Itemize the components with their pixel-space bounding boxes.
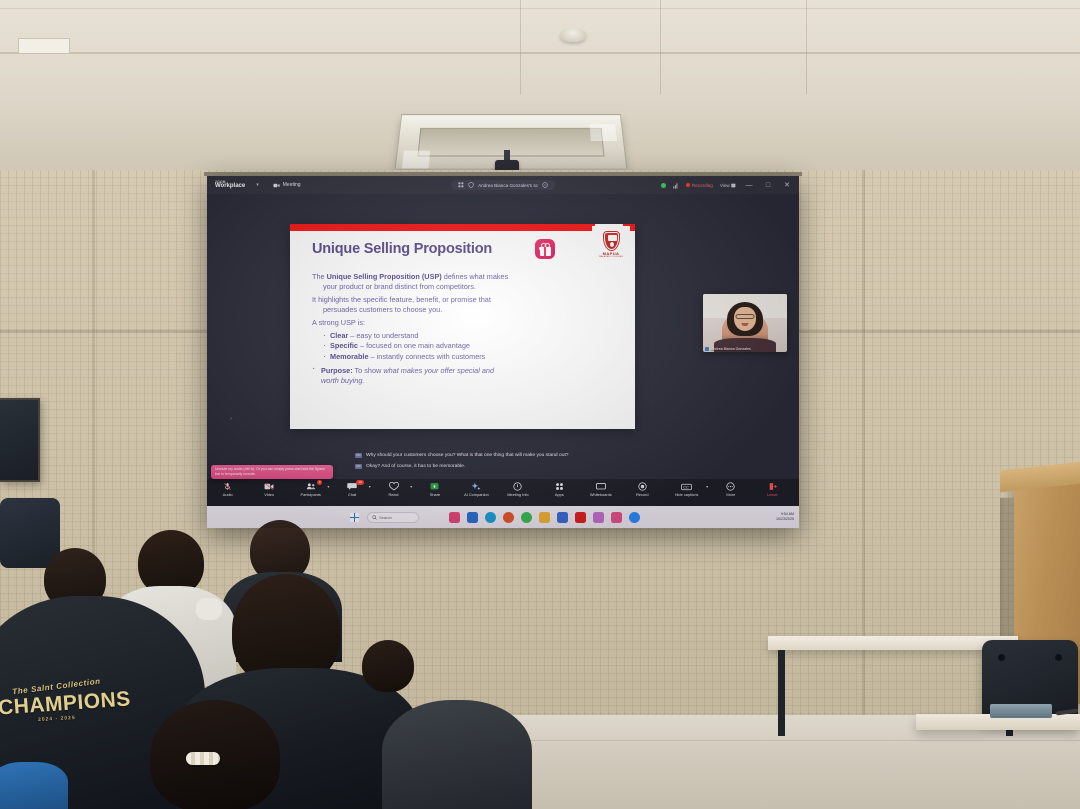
slide-paragraph-3: A strong USP is: <box>312 318 614 328</box>
recording-label: Recording <box>692 183 713 188</box>
chevron-down-icon[interactable]: ▾ <box>256 182 259 188</box>
toolbar-button-meeting-info[interactable]: Meeting Info <box>497 479 538 497</box>
app-icon-edge[interactable] <box>485 512 496 523</box>
toolbar-label-meeting-info: Meeting Info <box>507 492 528 497</box>
zoom-meeting-body: MAPUA MALAYAN COLLEGES Unique Selling Pr… <box>207 194 799 490</box>
ceiling-seam <box>0 8 1080 9</box>
slide-body: The Unique Selling Proposition (USP) def… <box>312 272 614 387</box>
student-body <box>0 762 68 809</box>
ceiling-light-panel <box>18 38 70 54</box>
zoom-workplace-logo: ZOOM Workplace <box>215 181 245 189</box>
audio-tooltip: Unmute my audio (Alt+A). Or you can simp… <box>211 465 333 479</box>
bullet-rest: – instantly connects with customers <box>369 352 486 361</box>
screen-share-marker: ↗ <box>229 416 232 421</box>
whiteboard-icon <box>596 482 606 491</box>
p1-part-d: your product or brand distinct from comp… <box>312 282 614 292</box>
participant-face <box>734 307 756 331</box>
smoke-detector <box>560 28 586 42</box>
participant-glasses <box>736 314 755 319</box>
info-circle-icon <box>513 482 522 491</box>
caption-text: Okay? And of course, it has to be memora… <box>366 463 465 470</box>
participant-name-badge: Andrea Bianca Gonzales <box>705 347 751 351</box>
windows-start-icon[interactable] <box>350 513 359 522</box>
recording-indicator[interactable]: Recording <box>686 183 713 188</box>
p2-part-a: It highlights the specific feature, bene… <box>312 295 491 304</box>
app-icon-canva[interactable] <box>611 512 622 523</box>
more-ellipsis-icon <box>726 482 735 491</box>
usp-bullet-list: Clear – easy to understand Specific – fo… <box>312 331 614 363</box>
toolbar-button-audio[interactable]: Audio <box>207 479 248 497</box>
chat-unread-badge: 10 <box>356 480 363 485</box>
clock-date: 10/23/2025 <box>776 517 794 522</box>
chevron-down-icon[interactable]: ▾ <box>410 484 412 489</box>
minus-circle-icon[interactable] <box>542 182 548 188</box>
chair-rivet <box>1055 654 1062 661</box>
video-camera-icon <box>273 182 280 189</box>
caption-line: CC Why should your customers choose you?… <box>355 452 655 459</box>
titlebar-right-controls: Recording View — □ ✕ <box>661 181 793 189</box>
meeting-title-text: Andrea Bianca Gonzales's sc <box>478 183 538 188</box>
wall-mounted-monitor <box>0 398 40 482</box>
chevron-down-icon[interactable]: ▾ <box>706 484 708 489</box>
search-placeholder: Search <box>379 515 392 520</box>
purpose-text-c: worth buying. <box>321 376 614 386</box>
closed-caption-icon: CC <box>681 482 692 491</box>
app-icon-firefox[interactable] <box>503 512 514 523</box>
toolbar-button-chat[interactable]: ▾ 10 Chat <box>331 479 372 497</box>
grid-icon <box>458 182 464 188</box>
toolbar-button-ai-companion[interactable]: AI Companion <box>456 479 497 497</box>
gift-box-icon <box>535 239 555 259</box>
zoom-brand-main: Workplace <box>215 183 245 189</box>
app-icon-explorer[interactable] <box>539 512 550 523</box>
slide-paragraph-1: The Unique Selling Proposition (USP) def… <box>312 272 614 292</box>
mapua-crest-icon <box>604 232 619 250</box>
close-button[interactable]: ✕ <box>781 181 793 189</box>
apps-grid-icon <box>555 482 564 491</box>
bullet-term: Specific <box>330 341 358 350</box>
toolbar-button-share[interactable]: Share <box>414 479 455 497</box>
purpose-text-a: To show <box>353 366 384 375</box>
taskbar-app-icons <box>449 512 640 523</box>
layout-icon <box>731 183 736 188</box>
ai-sparkle-icon <box>471 482 481 491</box>
classroom-table <box>768 636 1018 650</box>
purpose-label: Purpose: <box>321 366 353 375</box>
chevron-down-icon[interactable]: ▾ <box>327 484 329 489</box>
gift-ribbon <box>544 247 546 256</box>
meeting-title-pill[interactable]: Andrea Bianca Gonzales's sc <box>451 180 555 190</box>
share-screen-icon <box>430 482 439 491</box>
app-icon-photos[interactable] <box>593 512 604 523</box>
chevron-down-icon[interactable]: ▾ <box>369 484 371 489</box>
caption-text: Why should your customers choose you? Wh… <box>366 452 569 459</box>
participants-count-badge: 3 <box>317 480 323 485</box>
caption-line: CC Okay? And of course, it has to be mem… <box>355 463 655 470</box>
bullet-rest: – easy to understand <box>348 331 418 340</box>
toolbar-label-react: React <box>388 492 398 497</box>
toolbar-button-whiteboards[interactable]: Whiteboards <box>580 479 621 497</box>
zoom-bottom-toolbar: Unmute my audio (Alt+A). Or you can simp… <box>207 479 799 506</box>
classroom-scene: ZOOM Workplace ▾ Meeting Andrea B <box>0 0 1080 809</box>
toolbar-label-share: Share <box>430 492 440 497</box>
taskbar-clock[interactable]: 9:54 AM 10/23/2025 <box>776 512 794 522</box>
closed-caption-icon: CC <box>355 464 362 469</box>
view-label: View <box>720 183 730 188</box>
toolbar-label-participants: Participants <box>300 492 320 497</box>
app-icon-store[interactable] <box>557 512 568 523</box>
student-head <box>362 640 414 692</box>
app-icon-clipchamp[interactable] <box>449 512 460 523</box>
floor-tile-line <box>806 0 807 94</box>
gift-box-glyph <box>540 243 551 256</box>
list-item: Specific – focused on one main advantage <box>330 341 614 351</box>
purpose-text-b: what makes your offer special and <box>383 366 494 375</box>
view-button[interactable]: View <box>720 183 736 188</box>
mapua-logo-subtitle: MALAYAN COLLEGES <box>599 256 623 258</box>
toolbar-button-leave[interactable]: Leave <box>752 479 793 497</box>
ac-grille <box>417 128 604 157</box>
participants-icon <box>306 482 316 491</box>
toolbar-label-leave: Leave <box>767 492 778 497</box>
presence-online-icon <box>661 183 666 188</box>
p2-part-b: persuades customers to choose you. <box>312 305 614 315</box>
floor-tile-line <box>660 0 661 94</box>
heart-icon <box>389 482 399 491</box>
mapua-logo: MAPUA MALAYAN COLLEGES <box>592 226 630 264</box>
svg-text:CC: CC <box>683 485 689 489</box>
laptop-on-table <box>990 704 1052 718</box>
chair-rivet <box>998 654 1005 661</box>
meeting-tab[interactable]: Meeting <box>273 182 301 189</box>
p1-usp-term: Unique Selling Proposition (USP) <box>327 272 442 281</box>
ac-corner-vent <box>590 124 617 141</box>
list-item: Clear – easy to understand <box>330 331 614 341</box>
toolbar-label-whiteboards: Whiteboards <box>590 492 612 497</box>
toolbar-button-participants[interactable]: ▾ 3 Participants <box>290 479 331 497</box>
student-body <box>382 700 532 809</box>
floor-tile-line <box>520 0 521 94</box>
toolbar-button-apps[interactable]: Apps <box>539 479 580 497</box>
meeting-tab-label: Meeting <box>283 182 301 188</box>
zoom-title-bar: ZOOM Workplace ▾ Meeting Andrea B <box>207 176 799 194</box>
participant-video-thumbnail[interactable]: Andrea Bianca Gonzales <box>703 294 787 352</box>
toolbar-label-video: Video <box>264 492 274 497</box>
participant-name-label: Andrea Bianca Gonzales <box>711 347 751 351</box>
hair-scrunchie <box>186 752 220 765</box>
toolbar-button-hide-captions[interactable]: CC ▾ Hide captions <box>663 479 710 497</box>
bullet-term: Clear <box>330 331 348 340</box>
p1-part-a: The <box>312 272 327 281</box>
bullet-term: Memorable <box>330 352 369 361</box>
microphone-icon <box>705 347 709 351</box>
toolbar-button-record[interactable]: Record <box>622 479 663 497</box>
live-captions: CC Why should your customers choose you?… <box>355 452 655 474</box>
search-icon <box>372 515 377 520</box>
ceiling-seam <box>0 52 1080 54</box>
network-signal-icon <box>673 182 679 189</box>
record-circle-icon <box>638 482 647 491</box>
app-icon-chrome[interactable] <box>521 512 532 523</box>
toolbar-label-more: More <box>726 492 735 497</box>
search-input[interactable]: Search <box>367 512 419 523</box>
toolbar-button-video[interactable]: Video <box>248 479 289 497</box>
app-icon-youtube[interactable] <box>575 512 586 523</box>
slide-purpose-line: Purpose: To show what makes your offer s… <box>312 366 614 386</box>
list-item: Memorable – instantly connects with cust… <box>330 352 614 362</box>
table-leg <box>778 650 785 736</box>
leave-meeting-icon <box>768 482 777 491</box>
toolbar-button-react[interactable]: ▾ React <box>373 479 414 497</box>
slide-paragraph-2: It highlights the specific feature, bene… <box>312 295 614 315</box>
toolbar-label-ai-companion: AI Companion <box>464 492 489 497</box>
closed-caption-icon: CC <box>355 453 362 458</box>
camera-icon <box>264 482 274 491</box>
bullet-rest: – focused on one main advantage <box>358 341 470 350</box>
toolbar-label-chat: Chat <box>348 492 356 497</box>
app-icon-zoom[interactable] <box>629 512 640 523</box>
toolbar-label-record: Record <box>636 492 649 497</box>
toolbar-button-more[interactable]: More <box>710 479 751 497</box>
maximize-button[interactable]: □ <box>762 182 774 189</box>
record-dot-icon <box>686 183 690 187</box>
face-mask <box>196 598 222 620</box>
projector-screen: ZOOM Workplace ▾ Meeting Andrea B <box>207 176 799 528</box>
app-icon-outlook[interactable] <box>467 512 478 523</box>
slide-accent-bar <box>290 224 635 231</box>
p1-part-c: defines what makes <box>442 272 509 281</box>
minimize-button[interactable]: — <box>743 182 755 189</box>
slide-title: Unique Selling Proposition <box>312 241 492 257</box>
toolbar-label-apps: Apps <box>555 492 564 497</box>
microphone-muted-icon <box>223 482 232 491</box>
ac-corner-vent <box>402 151 430 169</box>
shared-slide: MAPUA MALAYAN COLLEGES Unique Selling Pr… <box>290 224 635 429</box>
toolbar-label-audio: Audio <box>223 492 233 497</box>
toolbar-label-hide-captions: Hide captions <box>675 492 699 497</box>
shield-icon <box>468 182 474 188</box>
